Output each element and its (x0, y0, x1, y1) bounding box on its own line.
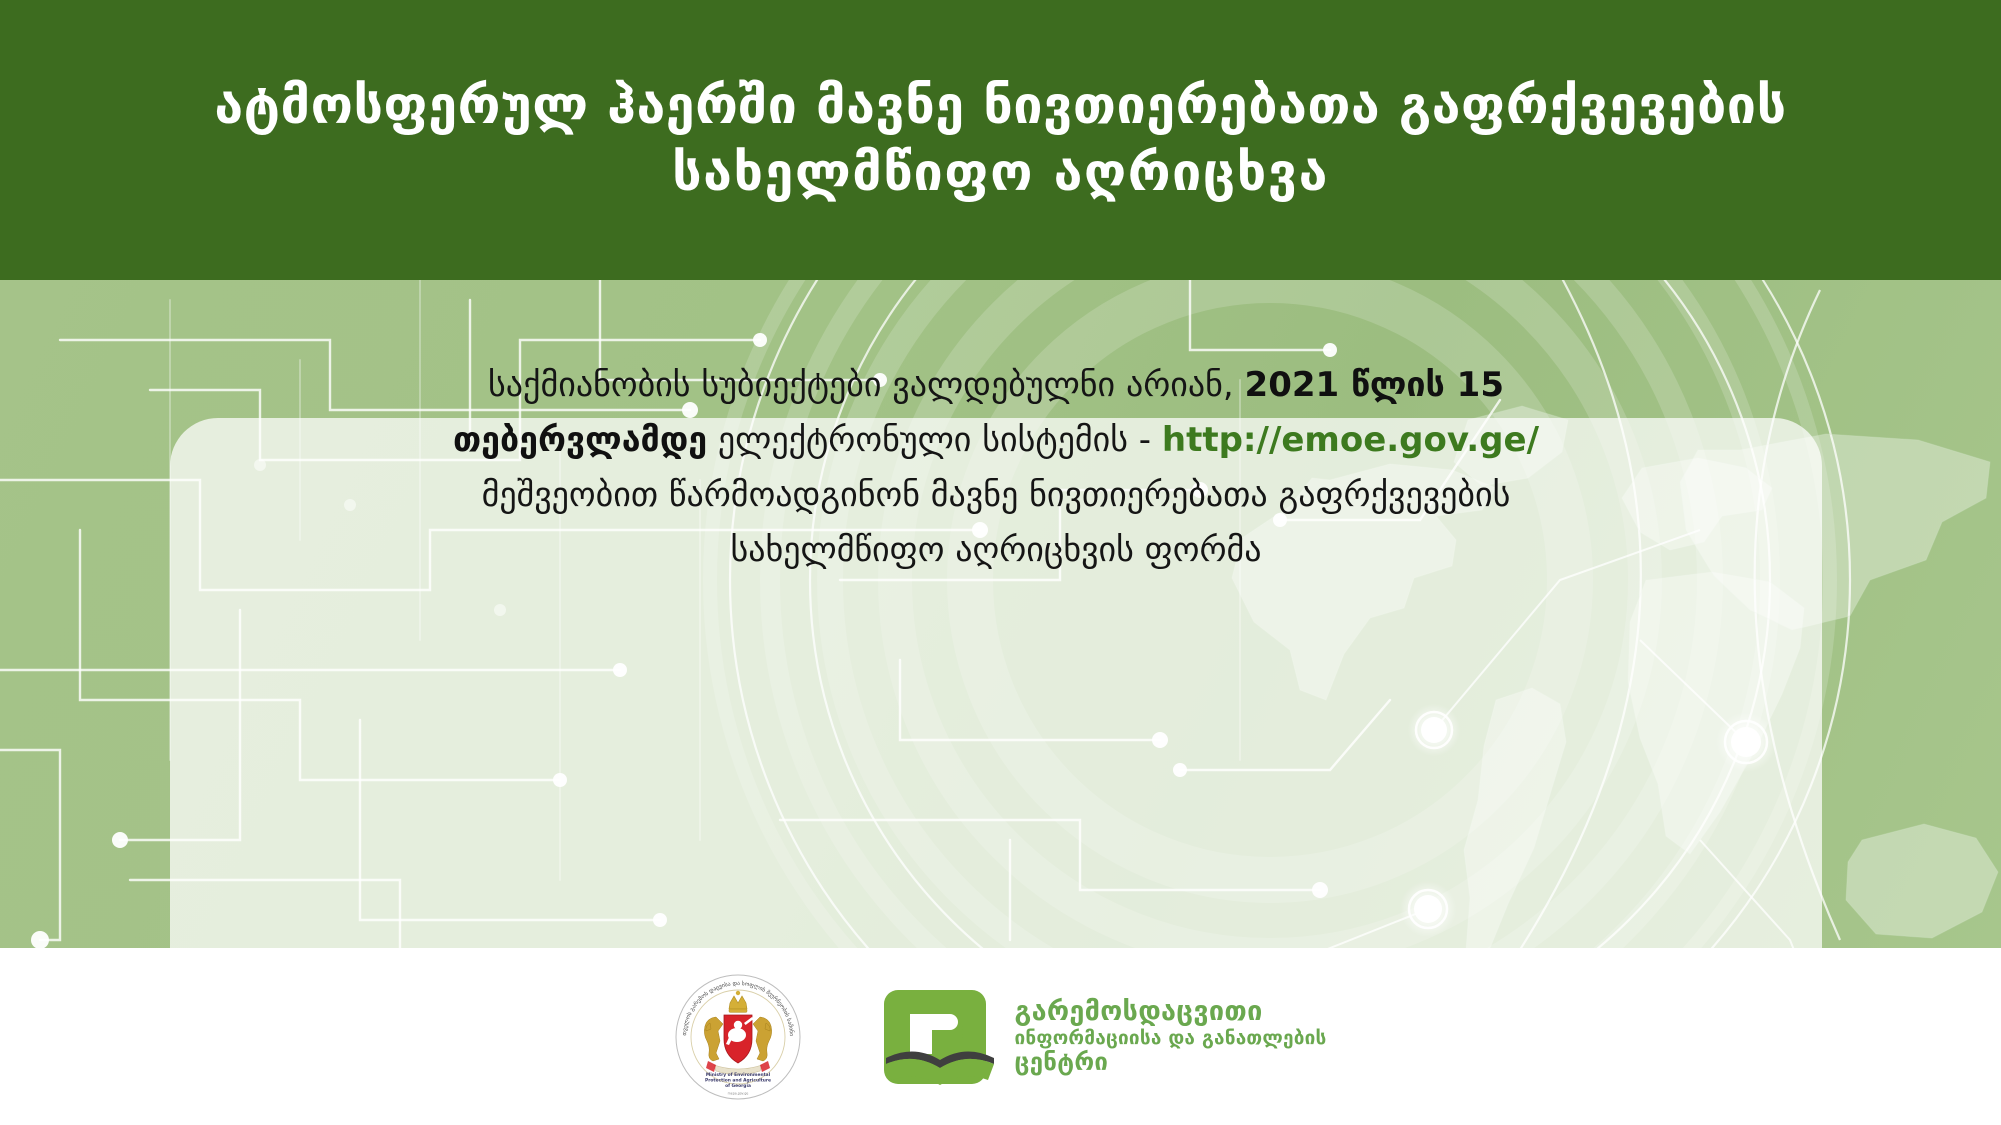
eiec-logo-icon (880, 984, 1000, 1090)
card-line-3: მეშვეობით წარმოადგინონ მავნე ნივთიერებათ… (482, 468, 1511, 523)
card-line-1: საქმიანობის სუბიექტები ვალდებულნი არიან,… (488, 358, 1504, 413)
eiec-text-line-3: ცენტრი (1014, 1050, 1326, 1075)
card-line-2-mid: ელექტრონული სისტემის - (707, 420, 1162, 460)
seal-caption-line-1: Ministry of Environmental (706, 1072, 771, 1078)
poster-root: ატმოსფერულ ჰაერში მავნე ნივთიერებათა გაფ… (0, 0, 2001, 1125)
footer-logo-strip: საქართველოს გარემოს დაცვისა და სოფლის მე… (0, 948, 2001, 1125)
header-title-line-2: სახელმწიფო აღრიცხვა (672, 143, 1329, 204)
eiec-text-line-2: ინფორმაციისა და განათლების (1014, 1029, 1326, 1049)
card-line-4: სახელმწიფო აღრიცხვის ფორმა (730, 523, 1261, 578)
header-banner: ატმოსფერულ ჰაერში მავნე ნივთიერებათა გაფ… (0, 0, 2001, 280)
header-title-line-1: ატმოსფერულ ჰაერში მავნე ნივთიერებათა გაფ… (214, 76, 1786, 137)
card-line-2-deadline: თებერვლამდე (453, 420, 707, 460)
card-line-1-prefix: საქმიანობის სუბიექტები ვალდებულნი არიან, (488, 365, 1245, 405)
seal-caption-line-3: of Georgia (726, 1083, 752, 1089)
card-line-2: თებერვლამდე ელექტრონული სისტემის - http:… (453, 413, 1539, 468)
eiec-logo: გარემოსდაცვითი ინფორმაციისა და განათლები… (880, 984, 1326, 1090)
eiec-text-line-1: გარემოსდაცვითი (1014, 998, 1326, 1026)
ministry-seal-icon: საქართველოს გარემოს დაცვისა და სოფლის მე… (674, 973, 802, 1101)
eiec-logo-text: გარემოსდაცვითი ინფორმაციისა და განათლები… (1014, 998, 1326, 1074)
ministry-seal-logo: საქართველოს გარემოს დაცვისა და სოფლის მე… (674, 973, 802, 1101)
seal-caption-url: mepa.gov.ge (728, 1091, 749, 1095)
card-line-1-date: 2021 წლის 15 (1245, 365, 1504, 405)
seal-caption-line-2: Protection and Agriculture (706, 1077, 772, 1083)
emoe-portal-link[interactable]: http://emoe.gov.ge/ (1162, 420, 1539, 460)
